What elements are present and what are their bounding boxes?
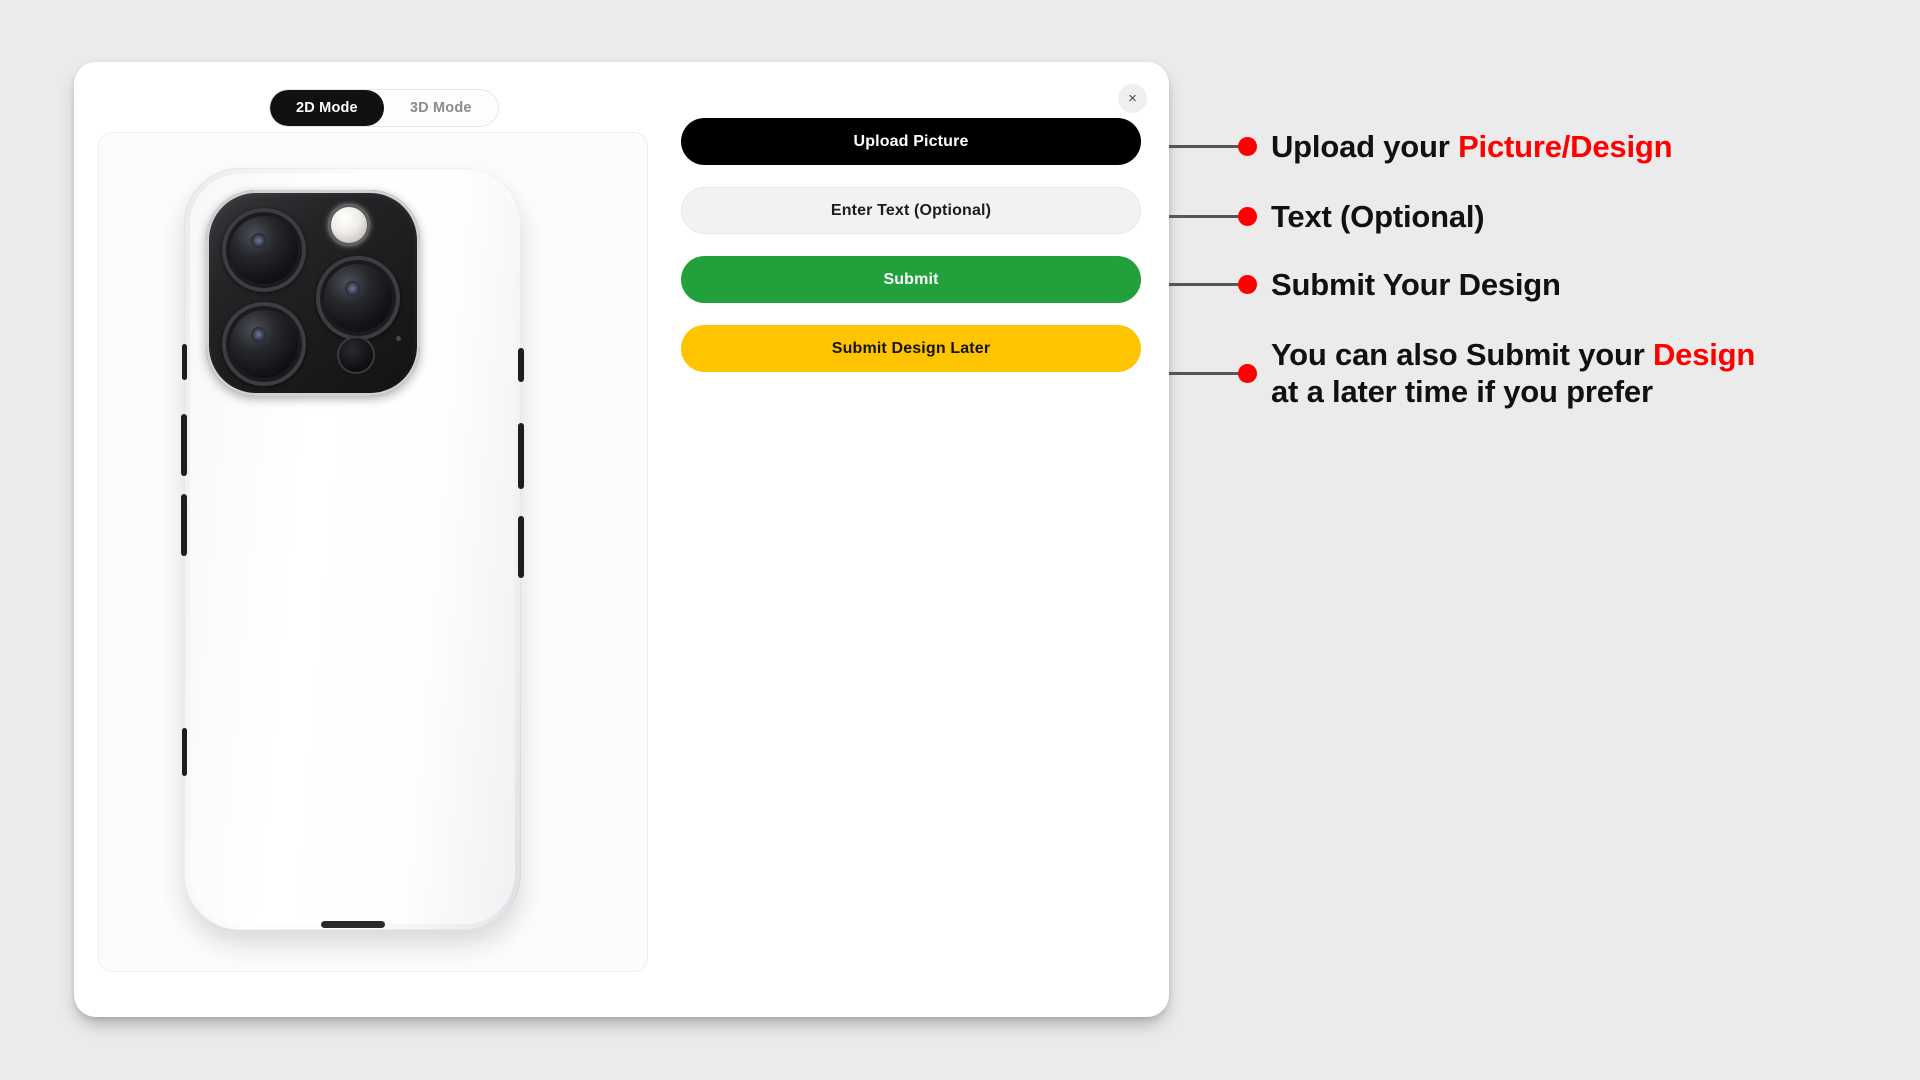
callout-later-highlight: Design bbox=[1653, 337, 1755, 372]
camera-control-cutout bbox=[518, 516, 524, 578]
action-button-stack: Upload Picture Enter Text (Optional) Sub… bbox=[681, 118, 1141, 372]
tab-2d-mode-label: 2D Mode bbox=[296, 100, 358, 116]
mute-switch-cutout bbox=[182, 344, 187, 380]
leader-line bbox=[1169, 283, 1241, 286]
camera-lens-icon-wide bbox=[222, 208, 306, 292]
callout-text-label: Text (Optional) bbox=[1271, 198, 1484, 235]
callout-submit: Submit Your Design bbox=[1169, 266, 1561, 303]
callout-upload-prefix: Upload your bbox=[1271, 129, 1458, 164]
camera-lens-icon-ultrawide bbox=[222, 302, 306, 386]
tab-2d-mode[interactable]: 2D Mode bbox=[270, 90, 384, 126]
callout-later-prefix: You can also Submit your bbox=[1271, 337, 1653, 372]
lidar-sensor-icon bbox=[337, 336, 375, 374]
callout-dot-icon bbox=[1238, 207, 1257, 226]
callout-upload-highlight: Picture/Design bbox=[1458, 129, 1672, 164]
close-icon[interactable]: × bbox=[1118, 84, 1147, 113]
phone-case-preview[interactable] bbox=[184, 168, 521, 930]
submit-design-later-button[interactable]: Submit Design Later bbox=[681, 325, 1141, 372]
tab-3d-mode[interactable]: 3D Mode bbox=[384, 90, 498, 126]
volume-down-cutout bbox=[181, 494, 187, 556]
callout-later-second-line: at a later time if you prefer bbox=[1271, 374, 1653, 409]
camera-lens-icon-telephoto bbox=[316, 256, 400, 340]
leader-line bbox=[1169, 145, 1241, 148]
callout-later-text: You can also Submit your Designat a late… bbox=[1271, 336, 1891, 410]
callout-upload: Upload your Picture/Design bbox=[1169, 128, 1672, 165]
callout-upload-text: Upload your Picture/Design bbox=[1271, 128, 1672, 165]
callout-dot-icon bbox=[1238, 137, 1257, 156]
callout-text: Text (Optional) bbox=[1169, 198, 1484, 235]
volume-up-cutout bbox=[181, 414, 187, 476]
action-button-cutout bbox=[182, 728, 187, 776]
enter-text-input[interactable]: Enter Text (Optional) bbox=[681, 187, 1141, 234]
charging-port-cutout bbox=[321, 921, 385, 928]
power-button-cutout bbox=[518, 423, 524, 489]
upload-picture-button[interactable]: Upload Picture bbox=[681, 118, 1141, 165]
tab-3d-mode-label: 3D Mode bbox=[410, 100, 472, 116]
submit-button[interactable]: Submit bbox=[681, 256, 1141, 303]
callout-dot-icon bbox=[1238, 364, 1257, 383]
product-preview-panel bbox=[98, 132, 648, 972]
design-upload-modal: 2D Mode 3D Mode × bbox=[74, 62, 1169, 1017]
camera-module bbox=[206, 190, 420, 396]
callout-later: You can also Submit your Designat a late… bbox=[1169, 336, 1891, 410]
leader-line bbox=[1169, 372, 1241, 375]
annotation-callouts: Upload your Picture/Design Text (Optiona… bbox=[1169, 0, 1920, 1080]
side-cutout-top bbox=[518, 348, 524, 382]
flash-icon bbox=[328, 204, 370, 246]
case-body bbox=[184, 168, 521, 930]
callout-submit-label: Submit Your Design bbox=[1271, 266, 1561, 303]
leader-line bbox=[1169, 215, 1241, 218]
mode-toggle-group[interactable]: 2D Mode 3D Mode bbox=[269, 89, 499, 127]
callout-dot-icon bbox=[1238, 275, 1257, 294]
microphone-icon bbox=[396, 336, 401, 341]
